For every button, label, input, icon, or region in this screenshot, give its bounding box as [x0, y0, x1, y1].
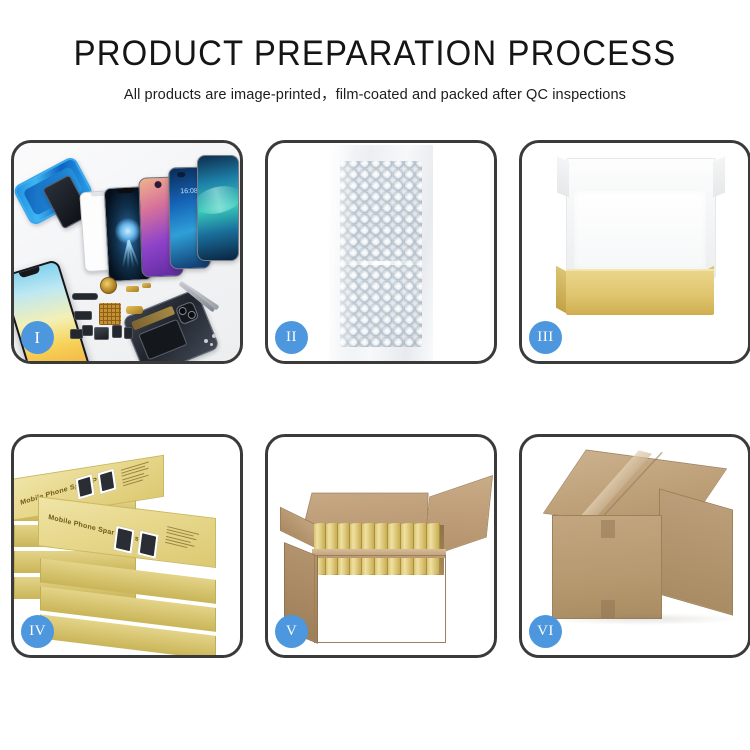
flex-cable-part — [126, 286, 139, 292]
screw-part — [210, 343, 213, 346]
step-badge-1: I — [21, 321, 54, 354]
sealed-carton-front-face — [552, 515, 662, 619]
product-preparation-infographic: PRODUCT PREPARATION PROCESS All products… — [0, 0, 750, 750]
carton-shadow — [548, 613, 738, 625]
screw-part — [212, 334, 216, 338]
vibration-motor-part — [100, 277, 117, 294]
step-panel-4[interactable]: Mobile Phone Spare Parts Mobile Phone Sp… — [11, 434, 243, 658]
box-window-graphic — [112, 525, 135, 555]
carton-front-face — [314, 555, 446, 643]
earpiece-mesh-part — [72, 293, 98, 300]
box-window-graphic — [136, 530, 159, 560]
taptic-part — [70, 329, 83, 339]
ic-chip-part — [82, 325, 93, 336]
button-flex-part — [142, 283, 151, 288]
loudspeaker-part — [94, 327, 109, 340]
page-subtitle: All products are image-printed，film-coat… — [11, 83, 739, 104]
inner-box-front-icon — [566, 271, 714, 315]
step-badge-3: III — [529, 321, 562, 354]
step-badge-5: V — [275, 615, 308, 648]
step-panel-1[interactable]: 16:08 — [11, 140, 243, 364]
logic-board-chip-part — [99, 303, 121, 325]
phone-teal-gradient-icon — [197, 155, 239, 261]
step-badge-6: VI — [529, 615, 562, 648]
power-flex-part — [126, 306, 143, 314]
camera-module-part — [112, 325, 122, 338]
screw-part — [204, 339, 208, 343]
bubble-wrap-pouch-icon — [329, 145, 433, 361]
page-title: PRODUCT PREPARATION PROCESS — [23, 34, 728, 74]
sim-tray-part — [124, 327, 133, 339]
foam-insert-icon — [574, 191, 706, 271]
step-panel-5[interactable]: V — [265, 434, 497, 658]
step-panel-3[interactable]: III — [519, 140, 750, 364]
connector-part — [74, 311, 92, 320]
sealed-carton-right-face — [659, 488, 733, 615]
steps-grid: 16:08 — [11, 140, 739, 680]
header: PRODUCT PREPARATION PROCESS All products… — [0, 0, 750, 104]
step-badge-2: II — [275, 321, 308, 354]
step-badge-4: IV — [21, 615, 54, 648]
step-panel-2[interactable]: II — [265, 140, 497, 364]
step-panel-6[interactable]: VI — [519, 434, 750, 658]
